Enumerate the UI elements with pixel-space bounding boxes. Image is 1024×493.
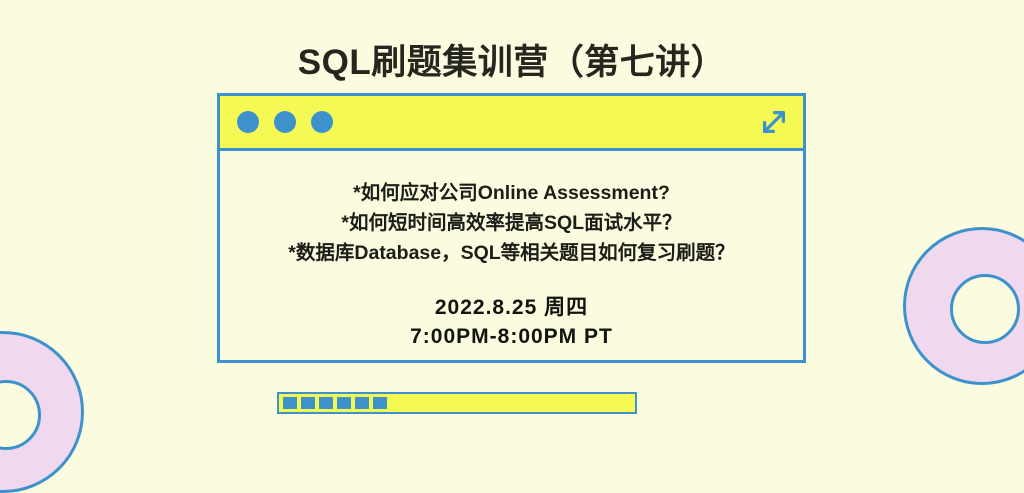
list-item: *数据库Database，SQL等相关题目如何复习刷题？ (220, 238, 803, 268)
window-dot-icon-1[interactable] (237, 111, 259, 133)
window-titlebar (220, 96, 803, 151)
donut-ring-left (0, 331, 84, 493)
schedule-block: 2022.8.25 周四 7:00PM-8:00PM PT (220, 293, 803, 353)
progress-block (373, 397, 387, 409)
donut-ring-right (903, 227, 1024, 385)
topic-list: *如何应对公司Online Assessment? *如何短时间高效率提高SQL… (220, 178, 803, 269)
list-item: *如何应对公司Online Assessment? (220, 178, 803, 208)
expand-diagonal-icon[interactable] (759, 107, 789, 137)
progress-block (301, 397, 315, 409)
progress-block (337, 397, 351, 409)
window-control-dots (237, 111, 333, 133)
progress-block (355, 397, 369, 409)
progress-block (283, 397, 297, 409)
list-item: *如何短时间高效率提高SQL面试水平？ (220, 208, 803, 238)
browser-window: *如何应对公司Online Assessment? *如何短时间高效率提高SQL… (217, 93, 806, 363)
window-dot-icon-3[interactable] (311, 111, 333, 133)
schedule-time: 7:00PM-8:00PM PT (220, 322, 803, 352)
progress-block (319, 397, 333, 409)
window-dot-icon-2[interactable] (274, 111, 296, 133)
page-title: SQL刷题集训营（第七讲） (0, 34, 1024, 85)
window-content: *如何应对公司Online Assessment? *如何短时间高效率提高SQL… (220, 151, 803, 352)
schedule-date: 2022.8.25 周四 (220, 293, 803, 323)
progress-bar[interactable] (277, 392, 637, 414)
